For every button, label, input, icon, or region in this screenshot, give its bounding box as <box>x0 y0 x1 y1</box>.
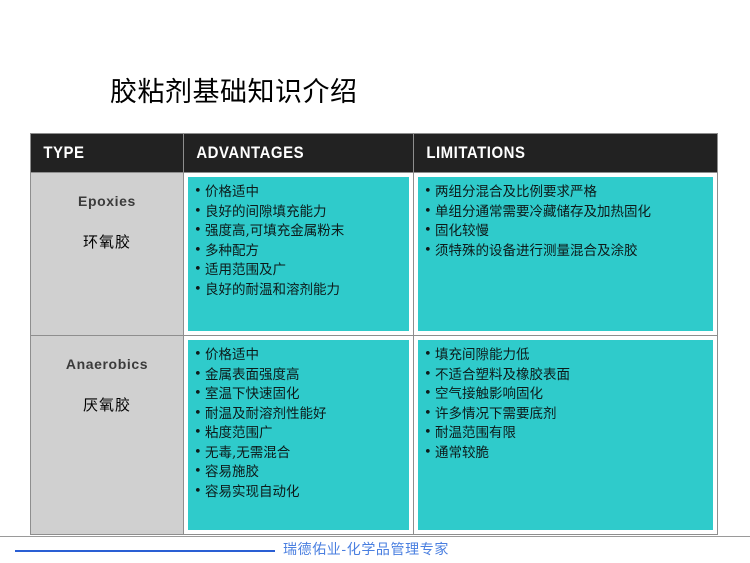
list-item: 室温下快速固化 <box>194 385 405 405</box>
list-item: 耐温及耐溶剂性能好 <box>194 405 405 425</box>
type-name-en: Anaerobics <box>31 356 183 372</box>
list-item: 填充间隙能力低 <box>424 346 709 366</box>
list-item: 无毒,无需混合 <box>194 444 405 464</box>
list-item: 良好的耐温和溶剂能力 <box>194 281 405 301</box>
limitations-list: 填充间隙能力低 不适合塑料及橡胶表面 空气接触影响固化 许多情况下需要底剂 耐温… <box>424 346 709 463</box>
table-header: TYPE ADVANTAGES LIMITATIONS <box>31 134 718 173</box>
table-row: Anaerobics 厌氧胶 价格适中 金属表面强度高 室温下快速固化 耐温及耐… <box>31 336 718 535</box>
list-item: 单组分通常需要冷藏储存及加热固化 <box>424 203 709 223</box>
list-item: 通常较脆 <box>424 444 709 464</box>
adhesive-comparison-table: TYPE ADVANTAGES LIMITATIONS Epoxies 环氧胶 <box>30 133 718 535</box>
list-item: 不适合塑料及橡胶表面 <box>424 366 709 386</box>
list-item: 空气接触影响固化 <box>424 385 709 405</box>
list-item: 价格适中 <box>194 346 405 366</box>
limitations-panel: 填充间隙能力低 不适合塑料及橡胶表面 空气接触影响固化 许多情况下需要底剂 耐温… <box>418 340 713 530</box>
footer-divider <box>0 536 750 537</box>
list-item: 容易实现自动化 <box>194 483 405 503</box>
advantages-cell-anaerobics: 价格适中 金属表面强度高 室温下快速固化 耐温及耐溶剂性能好 粘度范围广 无毒,… <box>184 336 414 535</box>
footer-accent-line <box>15 550 275 552</box>
advantages-panel: 价格适中 良好的间隙填充能力 强度高,可填充金属粉末 多种配方 适用范围及广 良… <box>188 177 409 331</box>
type-name-en: Epoxies <box>31 193 183 209</box>
column-header-type: TYPE <box>31 134 184 173</box>
table-header-row: TYPE ADVANTAGES LIMITATIONS <box>31 134 718 173</box>
list-item: 价格适中 <box>194 183 405 203</box>
table-body: Epoxies 环氧胶 价格适中 良好的间隙填充能力 强度高,可填充金属粉末 多… <box>31 173 718 535</box>
type-name-cn: 环氧胶 <box>31 231 183 252</box>
limitations-list: 两组分混合及比例要求严格 单组分通常需要冷藏储存及加热固化 固化较慢 须特殊的设… <box>424 183 709 261</box>
slide-canvas: 胶粘剂基础知识介绍 TYPE ADVANTAGES LIMITATIONS <box>0 0 750 563</box>
list-item: 容易施胶 <box>194 463 405 483</box>
list-item: 须特殊的设备进行测量混合及涂胶 <box>424 242 709 262</box>
table-row: Epoxies 环氧胶 价格适中 良好的间隙填充能力 强度高,可填充金属粉末 多… <box>31 173 718 336</box>
type-cell-epoxies: Epoxies 环氧胶 <box>31 173 184 336</box>
column-header-limitations: LIMITATIONS <box>414 134 718 173</box>
page-title: 胶粘剂基础知识介绍 <box>110 70 358 109</box>
list-item: 两组分混合及比例要求严格 <box>424 183 709 203</box>
advantages-cell-epoxies: 价格适中 良好的间隙填充能力 强度高,可填充金属粉末 多种配方 适用范围及广 良… <box>184 173 414 336</box>
column-header-advantages: ADVANTAGES <box>184 134 414 173</box>
list-item: 金属表面强度高 <box>194 366 405 386</box>
list-item: 强度高,可填充金属粉末 <box>194 222 405 242</box>
list-item: 粘度范围广 <box>194 424 405 444</box>
type-cell-anaerobics: Anaerobics 厌氧胶 <box>31 336 184 535</box>
list-item: 耐温范围有限 <box>424 424 709 444</box>
limitations-panel: 两组分混合及比例要求严格 单组分通常需要冷藏储存及加热固化 固化较慢 须特殊的设… <box>418 177 713 331</box>
footer-branding: 瑞德佑业-化学品管理专家 <box>283 539 449 559</box>
advantages-list: 价格适中 良好的间隙填充能力 强度高,可填充金属粉末 多种配方 适用范围及广 良… <box>194 183 405 300</box>
list-item: 良好的间隙填充能力 <box>194 203 405 223</box>
list-item: 固化较慢 <box>424 222 709 242</box>
column-header-type-label: TYPE <box>31 143 165 163</box>
list-item: 多种配方 <box>194 242 405 262</box>
advantages-panel: 价格适中 金属表面强度高 室温下快速固化 耐温及耐溶剂性能好 粘度范围广 无毒,… <box>188 340 409 530</box>
advantages-list: 价格适中 金属表面强度高 室温下快速固化 耐温及耐溶剂性能好 粘度范围广 无毒,… <box>194 346 405 502</box>
list-item: 适用范围及广 <box>194 261 405 281</box>
type-name-cn: 厌氧胶 <box>31 394 183 415</box>
column-header-advantages-label: ADVANTAGES <box>184 143 386 163</box>
column-header-limitations-label: LIMITATIONS <box>414 143 681 163</box>
list-item: 许多情况下需要底剂 <box>424 405 709 425</box>
limitations-cell-epoxies: 两组分混合及比例要求严格 单组分通常需要冷藏储存及加热固化 固化较慢 须特殊的设… <box>414 173 718 336</box>
limitations-cell-anaerobics: 填充间隙能力低 不适合塑料及橡胶表面 空气接触影响固化 许多情况下需要底剂 耐温… <box>414 336 718 535</box>
